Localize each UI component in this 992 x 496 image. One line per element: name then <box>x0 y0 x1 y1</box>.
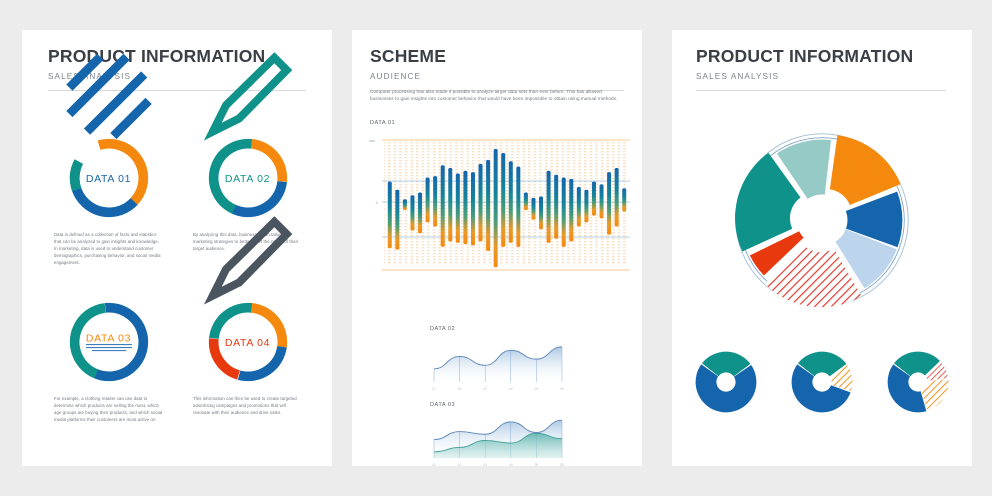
scheme-title: SCHEME <box>370 48 624 66</box>
donut-chart-data-01: DATA 01 <box>65 134 153 222</box>
svg-text:04: 04 <box>509 387 513 391</box>
y-axis-label-max: max <box>369 139 375 143</box>
svg-text:02: 02 <box>458 387 462 391</box>
svg-text:03: 03 <box>483 387 487 391</box>
svg-text:06: 06 <box>560 463 564 467</box>
range-bar-chart-svg: max 0 <box>360 130 634 278</box>
donut-description-data-03: For example, a clothing retailer can use… <box>46 396 171 424</box>
page-title: PRODUCT INFORMATION <box>696 48 946 66</box>
donut-chart-data-02: DATA 02 <box>204 134 292 222</box>
small-donut-3[interactable] <box>878 342 958 422</box>
donut-label-data-01: DATA 01 <box>65 173 153 185</box>
donut-card-data-04[interactable]: DATA 04 This information can then be use… <box>185 298 310 417</box>
donut-description-data-04: This information can then be used to cre… <box>185 396 310 417</box>
area-chart-data-02-svg: 010203040506 <box>424 332 572 394</box>
area-chart-data-03-svg: 010203040506 <box>424 408 572 470</box>
panel-product-information-left: PRODUCT INFORMATION SALES ANALYSIS <box>22 30 332 466</box>
svg-text:01: 01 <box>432 463 436 467</box>
donut-hole <box>798 196 847 245</box>
panel3-header: PRODUCT INFORMATION SALES ANALYSIS <box>696 48 946 91</box>
donut-label-data-02: DATA 02 <box>204 173 292 185</box>
svg-text:04: 04 <box>509 463 513 467</box>
range-bar-chart-data-01: max 0 <box>360 130 634 278</box>
svg-text:02: 02 <box>458 463 462 467</box>
donut-card-data-01[interactable]: DATA 01 Data is defined as a collection … <box>46 134 171 267</box>
pen-icon <box>204 216 292 309</box>
chart-caption-data-01: DATA 01 <box>370 120 395 126</box>
area-chart-data-03: 010203040506 <box>424 408 572 470</box>
y-axis-label-zero: 0 <box>376 201 378 205</box>
small-donut-2[interactable] <box>782 342 862 422</box>
lines-icon <box>65 344 153 351</box>
donut-chart-data-04: DATA 04 <box>204 298 292 386</box>
small-donut-row <box>686 342 958 428</box>
header-divider <box>696 90 946 91</box>
svg-text:01: 01 <box>432 387 436 391</box>
svg-text:06: 06 <box>560 387 564 391</box>
scheme-intro-paragraph: Computer processing has also made it pos… <box>370 88 624 103</box>
donut-card-data-03[interactable]: DATA 03 For example, a clothing retailer… <box>46 298 171 424</box>
hatch-icon <box>65 52 153 145</box>
svg-text:03: 03 <box>483 463 487 467</box>
donut-label-data-03: DATA 03 <box>65 333 153 345</box>
page-subtitle: SALES ANALYSIS <box>696 72 946 81</box>
panel2-header: SCHEME AUDIENCE <box>370 48 624 91</box>
svg-text:05: 05 <box>535 463 539 467</box>
pen-icon <box>204 52 292 145</box>
infographic-board: PRODUCT INFORMATION SALES ANALYSIS <box>0 0 992 496</box>
exploded-donut-chart[interactable] <box>724 122 920 318</box>
scheme-subtitle: AUDIENCE <box>370 72 624 81</box>
panel-scheme-middle: SCHEME AUDIENCE Computer processing has … <box>352 30 642 466</box>
exploded-donut-svg <box>724 122 920 318</box>
donut-description-data-01: Data is defined as a collection of facts… <box>46 232 171 267</box>
panel-product-information-right: PRODUCT INFORMATION SALES ANALYSIS <box>672 30 972 466</box>
donut-chart-data-03: DATA 03 <box>65 298 153 386</box>
donut-label-data-04: DATA 04 <box>204 337 292 349</box>
small-donut-1[interactable] <box>686 342 766 422</box>
svg-text:05: 05 <box>535 387 539 391</box>
area-chart-data-02: 010203040506 <box>424 332 572 394</box>
